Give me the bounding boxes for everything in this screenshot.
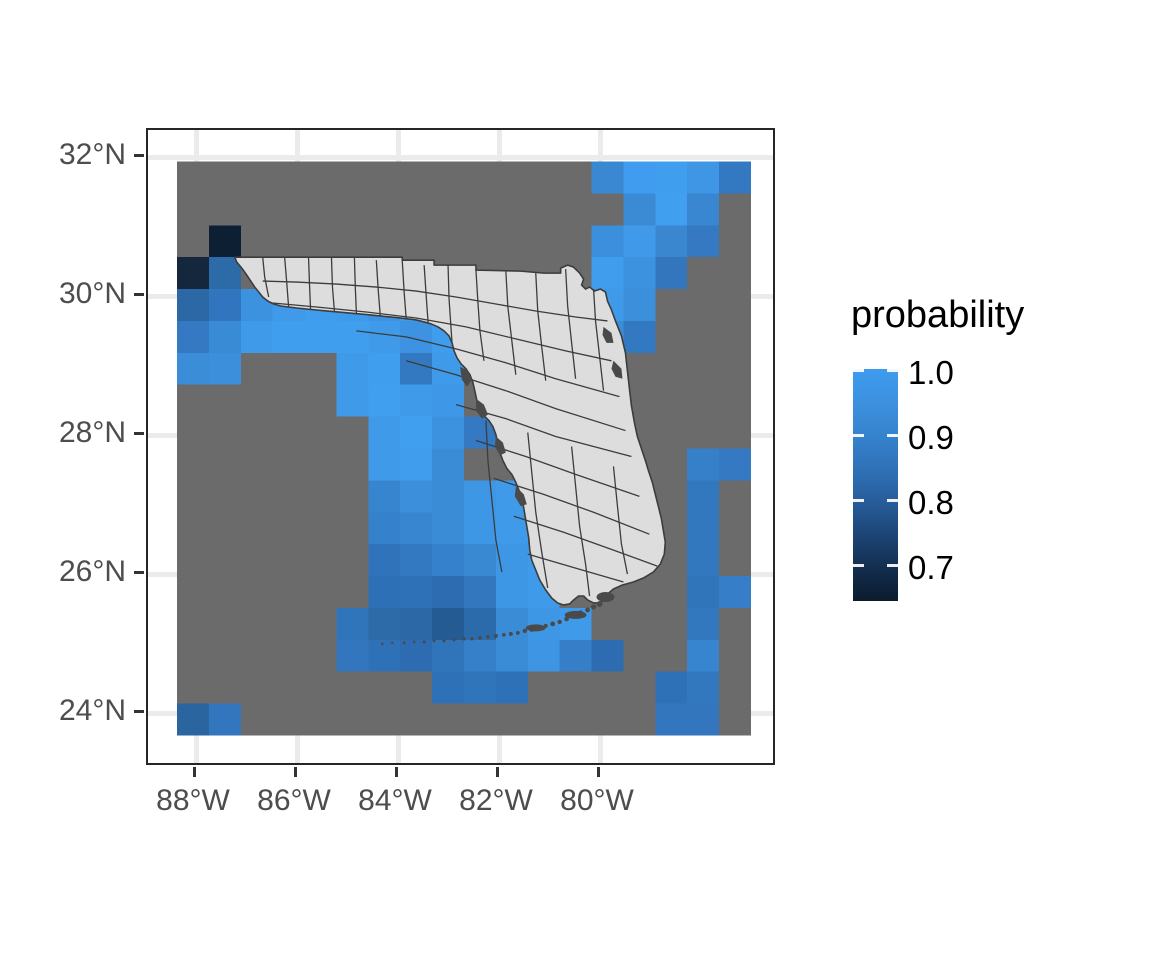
tick-mark-84W xyxy=(395,767,398,777)
plot-panel-wrapper xyxy=(146,128,775,765)
raster-cell xyxy=(687,480,719,512)
raster-cell xyxy=(209,704,241,736)
raster-cell xyxy=(209,289,241,321)
raster-cell xyxy=(368,576,400,608)
raster-cell xyxy=(432,512,464,544)
raster-cell xyxy=(655,225,687,257)
legend-tick-0.9-left xyxy=(853,434,864,437)
raster-cell xyxy=(368,544,400,576)
raster-cell xyxy=(177,353,209,385)
legend-label-0.7: 0.7 xyxy=(908,551,954,584)
raster-cell xyxy=(719,162,751,194)
tick-mark-88W xyxy=(193,767,196,777)
legend-tick-1.0-left xyxy=(853,369,864,372)
raster-cell xyxy=(432,385,464,417)
raster-cell xyxy=(496,544,528,576)
legend-label-0.9: 0.9 xyxy=(908,421,954,454)
raster-cell xyxy=(464,640,496,672)
raster-cell xyxy=(368,449,400,481)
legend-tick-0.9-right xyxy=(887,434,898,437)
raster-cell xyxy=(368,385,400,417)
raster-cell xyxy=(687,193,719,225)
raster-cell xyxy=(336,321,368,353)
raster-cell xyxy=(464,672,496,704)
raster-cell xyxy=(592,640,624,672)
raster-cell xyxy=(432,449,464,481)
raster-cell xyxy=(496,512,528,544)
raster-cell xyxy=(464,544,496,576)
raster-cell xyxy=(336,608,368,640)
raster-cell xyxy=(655,162,687,194)
raster-cell xyxy=(623,289,655,321)
xtick-label-80W: 80°W xyxy=(527,786,667,816)
raster-cell xyxy=(719,449,751,481)
raster-cell xyxy=(209,321,241,353)
raster-cell xyxy=(432,640,464,672)
raster-cell xyxy=(623,257,655,289)
raster-cell xyxy=(687,225,719,257)
raster-cell xyxy=(432,608,464,640)
raster-cell xyxy=(687,512,719,544)
raster-cell xyxy=(687,640,719,672)
raster-cell xyxy=(241,321,273,353)
raster-cell xyxy=(560,640,592,672)
ytick-label-26N: 26°N xyxy=(16,557,126,587)
raster-cell xyxy=(464,576,496,608)
legend-tick-0.8-right xyxy=(887,499,898,502)
legend-tick-0.7-right xyxy=(887,564,898,567)
tick-mark-86W xyxy=(294,767,297,777)
legend-tick-0.8-left xyxy=(853,499,864,502)
raster-cell xyxy=(209,225,241,257)
plot-panel xyxy=(146,128,775,765)
tick-mark-32N xyxy=(134,154,144,157)
raster-cell xyxy=(623,225,655,257)
raster-cell xyxy=(687,704,719,736)
ytick-label-32N: 32°N xyxy=(16,140,126,170)
tick-mark-24N xyxy=(134,710,144,713)
raster-cell xyxy=(655,193,687,225)
raster-cell xyxy=(592,162,624,194)
tick-mark-80W xyxy=(597,767,600,777)
raster-cell xyxy=(305,321,337,353)
raster-cell xyxy=(687,449,719,481)
raster-cell xyxy=(400,417,432,449)
raster-cell xyxy=(400,512,432,544)
ytick-label-30N: 30°N xyxy=(16,279,126,309)
raster-cell xyxy=(368,321,400,353)
raster-cell xyxy=(273,321,305,353)
tick-mark-82W xyxy=(496,767,499,777)
raster-cell xyxy=(655,672,687,704)
raster-cell xyxy=(400,480,432,512)
ytick-label-28N: 28°N xyxy=(16,418,126,448)
raster-cell xyxy=(432,576,464,608)
raster-cell xyxy=(592,257,624,289)
tick-mark-30N xyxy=(134,293,144,296)
raster-cell xyxy=(687,544,719,576)
raster-cell xyxy=(177,289,209,321)
raster-cell xyxy=(432,480,464,512)
raster-cell xyxy=(177,321,209,353)
raster-cell xyxy=(687,608,719,640)
plot-panel-inner xyxy=(148,130,773,763)
raster-cell xyxy=(368,640,400,672)
raster-cell xyxy=(623,162,655,194)
legend-label-0.8: 0.8 xyxy=(908,486,954,519)
ytick-label-24N: 24°N xyxy=(16,696,126,726)
raster-cell xyxy=(687,162,719,194)
raster-cell xyxy=(400,385,432,417)
raster-cell xyxy=(687,672,719,704)
raster-cell xyxy=(368,512,400,544)
raster-cell xyxy=(496,672,528,704)
raster-cell xyxy=(592,225,624,257)
raster-cell xyxy=(400,640,432,672)
raster-cell xyxy=(432,544,464,576)
raster-cell xyxy=(336,640,368,672)
tick-mark-28N xyxy=(134,432,144,435)
raster-cell xyxy=(464,608,496,640)
legend-label-1.0: 1.0 xyxy=(908,356,954,389)
raster-cell xyxy=(400,544,432,576)
raster-cell xyxy=(209,353,241,385)
raster-cell xyxy=(400,608,432,640)
legend-tick-1.0-right xyxy=(887,369,898,372)
raster-cell xyxy=(687,576,719,608)
raster-cell xyxy=(496,640,528,672)
legend-colorbar xyxy=(853,369,898,601)
raster-cell xyxy=(496,576,528,608)
raster-cell xyxy=(368,480,400,512)
legend: probability 1.0 0.9 0.8 0.7 xyxy=(851,296,1131,616)
raster-cell xyxy=(368,353,400,385)
legend-tick-0.7-left xyxy=(853,564,864,567)
raster-cell xyxy=(655,257,687,289)
raster-cell xyxy=(432,672,464,704)
raster-svg xyxy=(177,157,751,740)
raster-cell xyxy=(336,353,368,385)
raster-cell xyxy=(177,257,209,289)
raster-cell xyxy=(623,321,655,353)
raster-cell xyxy=(655,704,687,736)
chart-canvas: 32°N 30°N 28°N 26°N 24°N 88°W 86°W 84°W … xyxy=(0,0,1152,960)
legend-title: probability xyxy=(851,296,1024,334)
probability-raster xyxy=(177,157,751,740)
raster-cell xyxy=(528,640,560,672)
raster-cell xyxy=(368,417,400,449)
raster-cell xyxy=(400,576,432,608)
tick-mark-26N xyxy=(134,571,144,574)
raster-cell xyxy=(177,704,209,736)
raster-cell xyxy=(368,608,400,640)
raster-cell xyxy=(336,385,368,417)
raster-cell xyxy=(432,417,464,449)
raster-cell xyxy=(400,353,432,385)
raster-cell xyxy=(623,193,655,225)
raster-cell xyxy=(400,449,432,481)
raster-cell xyxy=(719,576,751,608)
raster-cell xyxy=(464,512,496,544)
